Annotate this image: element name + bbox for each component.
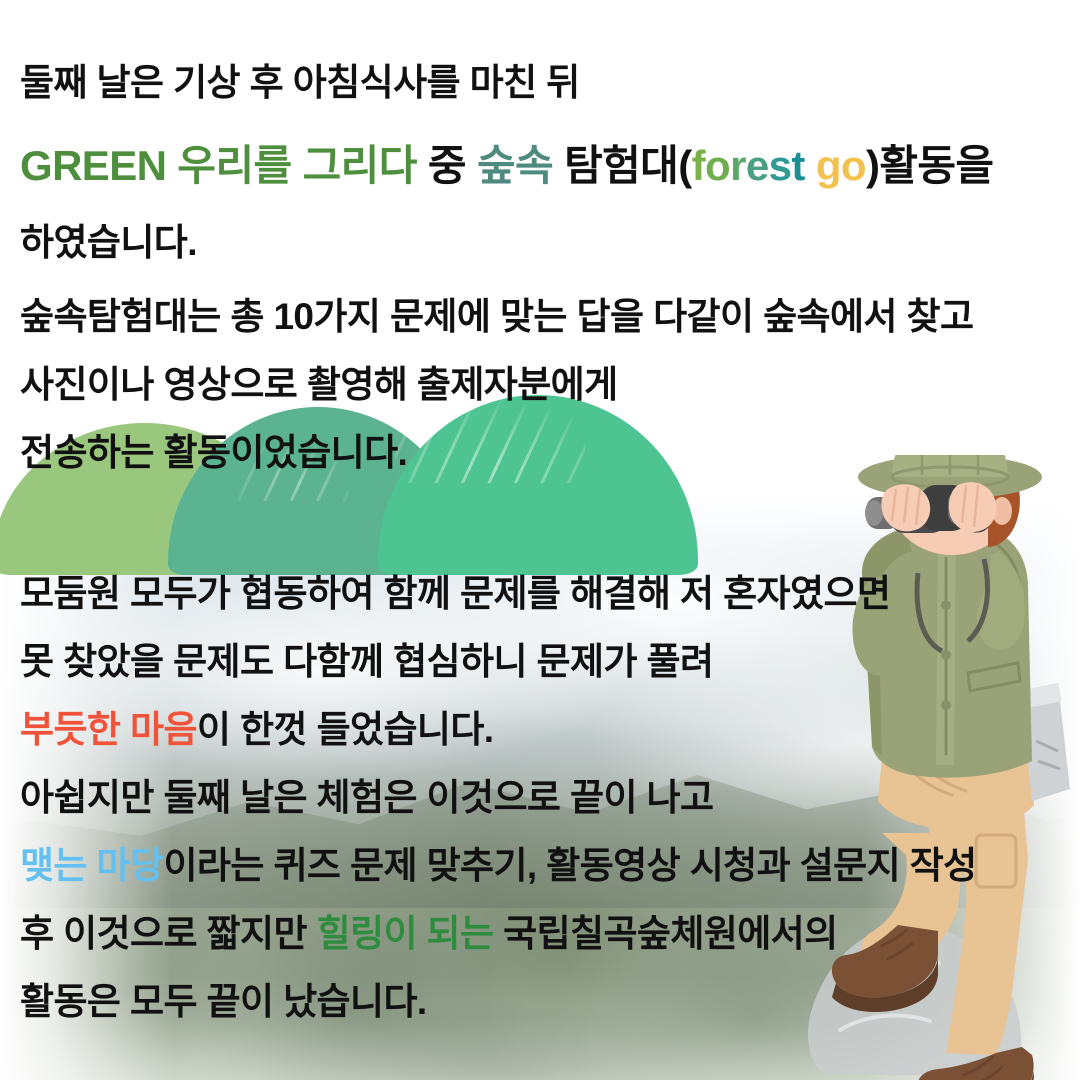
paragraph-line-11: 맺는 마당이라는 퀴즈 문제 맞추기, 활동영상 시청과 설문지 작성 [20,835,977,889]
line2-mid: 중 [417,142,477,189]
forest-letter-t: t [791,142,804,189]
green-highlight: 힐링이 되는 [317,913,494,954]
teal-keyword: 숲속 [477,142,553,189]
line11-rest: 이라는 퀴즈 문제 맞추기, 활동영상 시청과 설문지 작성 [163,845,976,886]
paragraph-line-9: 부듯한 마음이 한껏 들었습니다. [20,699,493,753]
paragraph-line-13: 활동은 모두 끝이 났습니다. [20,971,427,1025]
text-content: 둘째 날은 기상 후 아침식사를 마친 뒤 GREEN 우리를 그리다 중 숲속… [0,0,1080,1080]
paragraph-line-12: 후 이것으로 짧지만 힐링이 되는 국립칠곡숲체원에서의 [20,903,838,957]
paragraph-line-10: 아쉽지만 둘째 날은 체험은 이것으로 끝이 나고 [20,767,713,821]
line2-after-teal: 탐험대( [553,142,692,189]
line2-close: )활동을 [866,142,994,189]
paragraph-line-4: 숲속탐험대는 총 10가지 문제에 맞는 답을 다같이 숲속에서 찾고 [20,286,973,340]
forest-letter-s: s [769,142,792,189]
line9-rest: 이 한껏 들었습니다. [197,709,494,750]
skyblue-highlight: 맺는 마당 [20,845,163,886]
forest-letter-o: o [705,142,730,189]
line12-pre: 후 이것으로 짧지만 [20,913,317,954]
paragraph-line-3: 하였습니다. [20,212,197,266]
orange-highlight: 부듯한 마음 [20,709,197,750]
brand-green-text: GREEN 우리를 그리다 [20,142,417,189]
go-text: go [816,142,866,189]
poster-card: 둘째 날은 기상 후 아침식사를 마친 뒤 GREEN 우리를 그리다 중 숲속… [0,0,1080,1080]
line12-rest: 국립칠곡숲체원에서의 [493,913,837,954]
forest-go-space [805,142,816,189]
paragraph-line-6: 전송하는 활동이었습니다. [20,422,407,476]
paragraph-line-2: GREEN 우리를 그리다 중 숲속 탐험대(forest go)활동을 [20,132,993,193]
forest-letter-f: f [692,142,705,189]
forest-letter-r: r [730,142,746,189]
forest-letter-e: e [746,142,769,189]
paragraph-line-5: 사진이나 영상으로 촬영해 출제자분에게 [20,354,618,408]
paragraph-line-8: 못 찾았을 문제도 다함께 협심하니 문제가 풀려 [20,631,713,685]
paragraph-line-7: 모둠원 모두가 협동하여 함께 문제를 해결해 저 혼자였으면 [20,563,890,617]
paragraph-line-1: 둘째 날은 기상 후 아침식사를 마친 뒤 [20,52,580,106]
